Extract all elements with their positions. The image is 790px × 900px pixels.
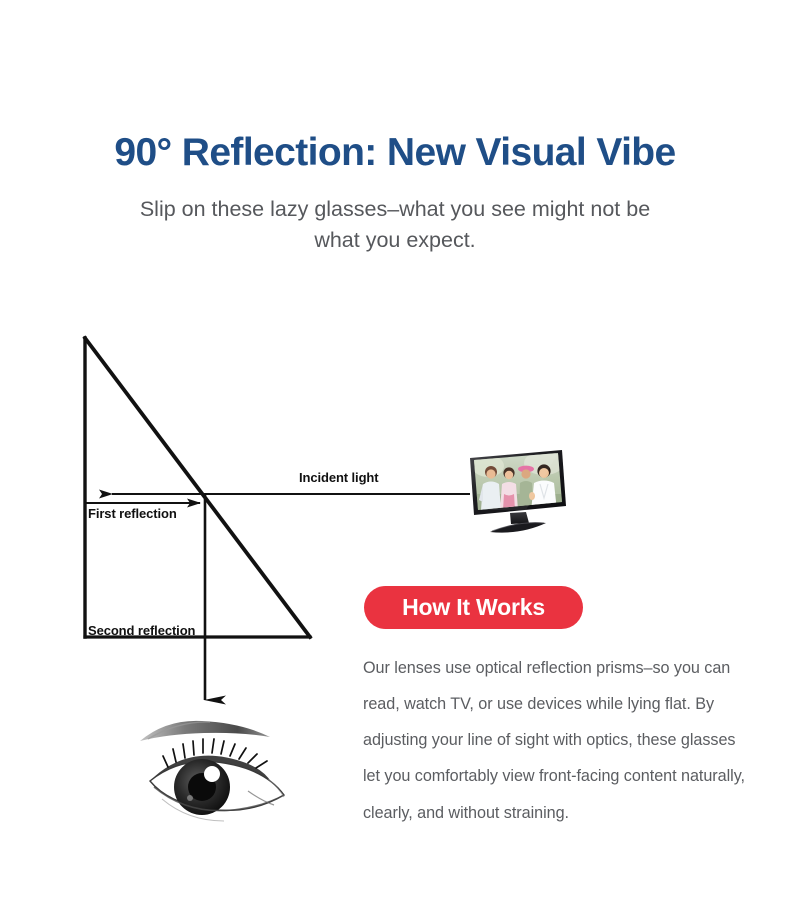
eyebrow [140, 721, 270, 741]
eye-illustration [128, 703, 314, 835]
tv-stand-neck [510, 512, 529, 524]
label-incident-light: Incident light [299, 470, 378, 485]
how-it-works-body: Our lenses use optical reflection prisms… [363, 650, 755, 831]
how-it-works-badge[interactable]: How It Works [364, 586, 583, 629]
page-subtitle: Slip on these lazy glasses–what you see … [125, 194, 665, 255]
label-second-reflection: Second reflection [88, 623, 195, 638]
prism-hypotenuse [85, 338, 310, 637]
eye-highlight [204, 766, 220, 782]
label-first-reflection: First reflection [88, 506, 177, 521]
television-illustration [466, 450, 570, 535]
page-title: 90° Reflection: New Visual Vibe [0, 131, 790, 175]
page-root: 90° Reflection: New Visual Vibe Slip on … [0, 0, 790, 900]
